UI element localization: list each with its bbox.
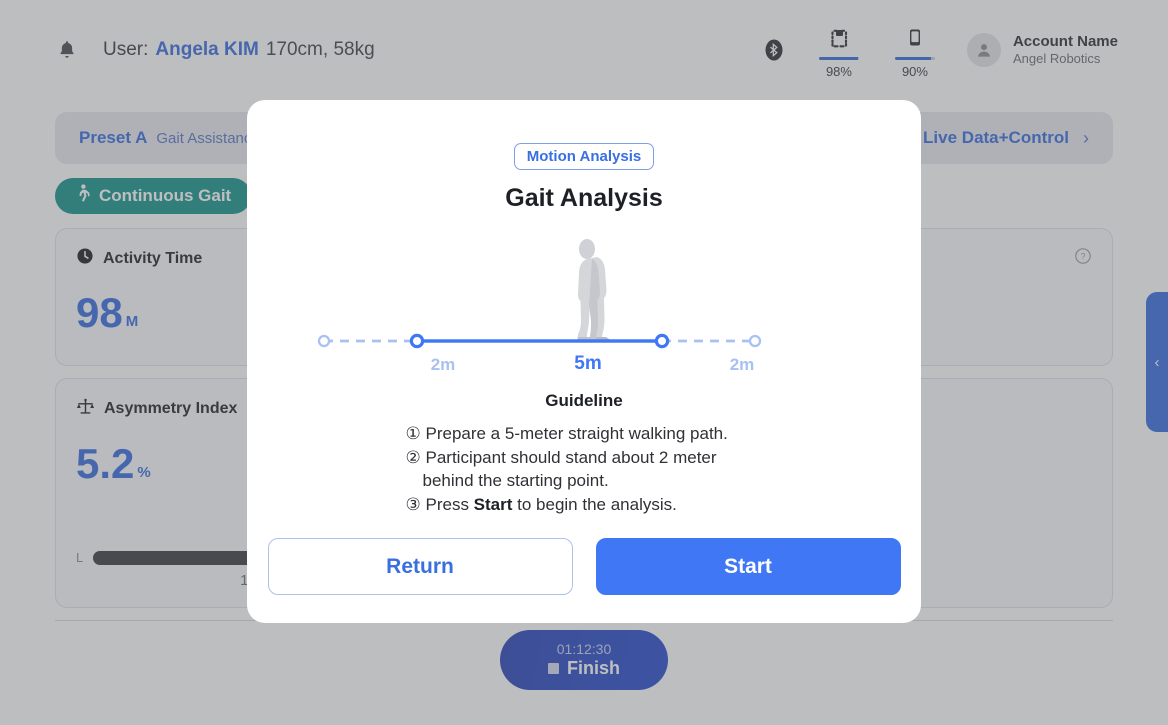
- guideline-marker-1: ①: [406, 424, 421, 443]
- guideline-marker-3: ③: [406, 495, 421, 514]
- path-right-label: 2m: [712, 355, 772, 375]
- guideline-item-3: ③ Press Start to begin the analysis.: [406, 494, 763, 517]
- guideline-heading: Guideline: [247, 391, 921, 411]
- path-center-label: 5m: [558, 353, 618, 375]
- marker-start-point: [411, 335, 422, 346]
- return-button[interactable]: Return: [268, 538, 573, 595]
- motion-analysis-badge: Motion Analysis: [514, 143, 654, 170]
- guideline-marker-2: ②: [406, 448, 421, 467]
- standing-person-silhouette-icon: [577, 239, 612, 342]
- guideline-item-2: ② Participant should stand about 2 meter…: [406, 447, 763, 493]
- walking-path-diagram: 2m 5m 2m: [247, 235, 921, 375]
- start-button[interactable]: Start: [596, 538, 901, 595]
- guideline-item-1: ① Prepare a 5-meter straight walking pat…: [406, 423, 763, 446]
- dialog-title: Gait Analysis: [247, 184, 921, 213]
- guideline-text-3-before: Press: [425, 495, 473, 514]
- marker-right-end: [750, 336, 760, 346]
- gait-analysis-dialog: Motion Analysis Gait Analysis: [247, 100, 921, 623]
- guideline-list: ① Prepare a 5-meter straight walking pat…: [247, 423, 921, 517]
- guideline-text-3-bold: Start: [474, 495, 513, 514]
- dialog-actions: Return Start: [247, 538, 921, 595]
- guideline-text-1: Prepare a 5-meter straight walking path.: [425, 424, 727, 443]
- marker-end-point: [656, 335, 667, 346]
- path-left-label: 2m: [413, 355, 473, 375]
- guideline-text-3-after: to begin the analysis.: [512, 495, 676, 514]
- marker-left-end: [319, 336, 329, 346]
- guideline-text-2: Participant should stand about 2 meter b…: [423, 448, 717, 490]
